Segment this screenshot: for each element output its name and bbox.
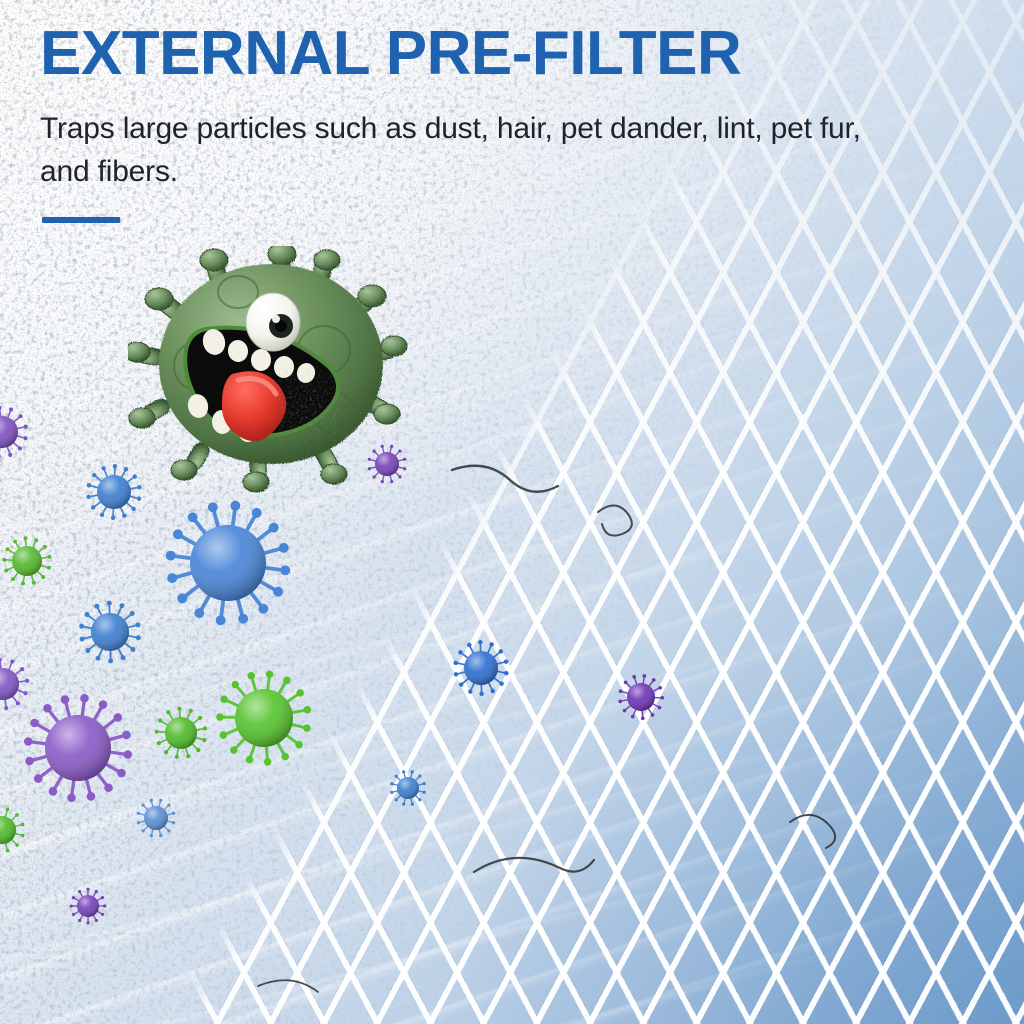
germ-green-small-2 (155, 707, 207, 759)
product-feature-banner: EXTERNAL PRE-FILTER Traps large particle… (0, 0, 1024, 1024)
germ-monster (128, 246, 418, 496)
germ-purple-edge-top (0, 406, 28, 458)
monster-eye (246, 293, 300, 351)
germ-purple-small-2 (70, 888, 107, 925)
germ-purple-large (24, 694, 132, 802)
page-title: EXTERNAL PRE-FILTER (40, 22, 741, 85)
germ-blue-small-4 (390, 770, 426, 806)
germ-purple-trapped-1 (618, 674, 664, 720)
germ-blue-large (166, 501, 290, 625)
germ-purple-left-mid (0, 658, 29, 710)
germ-green-small-1 (2, 536, 51, 585)
germ-blue-small-2 (79, 601, 141, 664)
germ-green-edge-left (0, 808, 24, 853)
accent-bar (42, 217, 120, 223)
germ-blue-trapped-1 (453, 640, 508, 696)
monster-dissolve-particles (278, 366, 418, 496)
germ-blue-small-3 (137, 799, 175, 837)
germ-green-large (216, 671, 311, 766)
page-subtitle: Traps large particles such as dust, hair… (40, 108, 910, 193)
